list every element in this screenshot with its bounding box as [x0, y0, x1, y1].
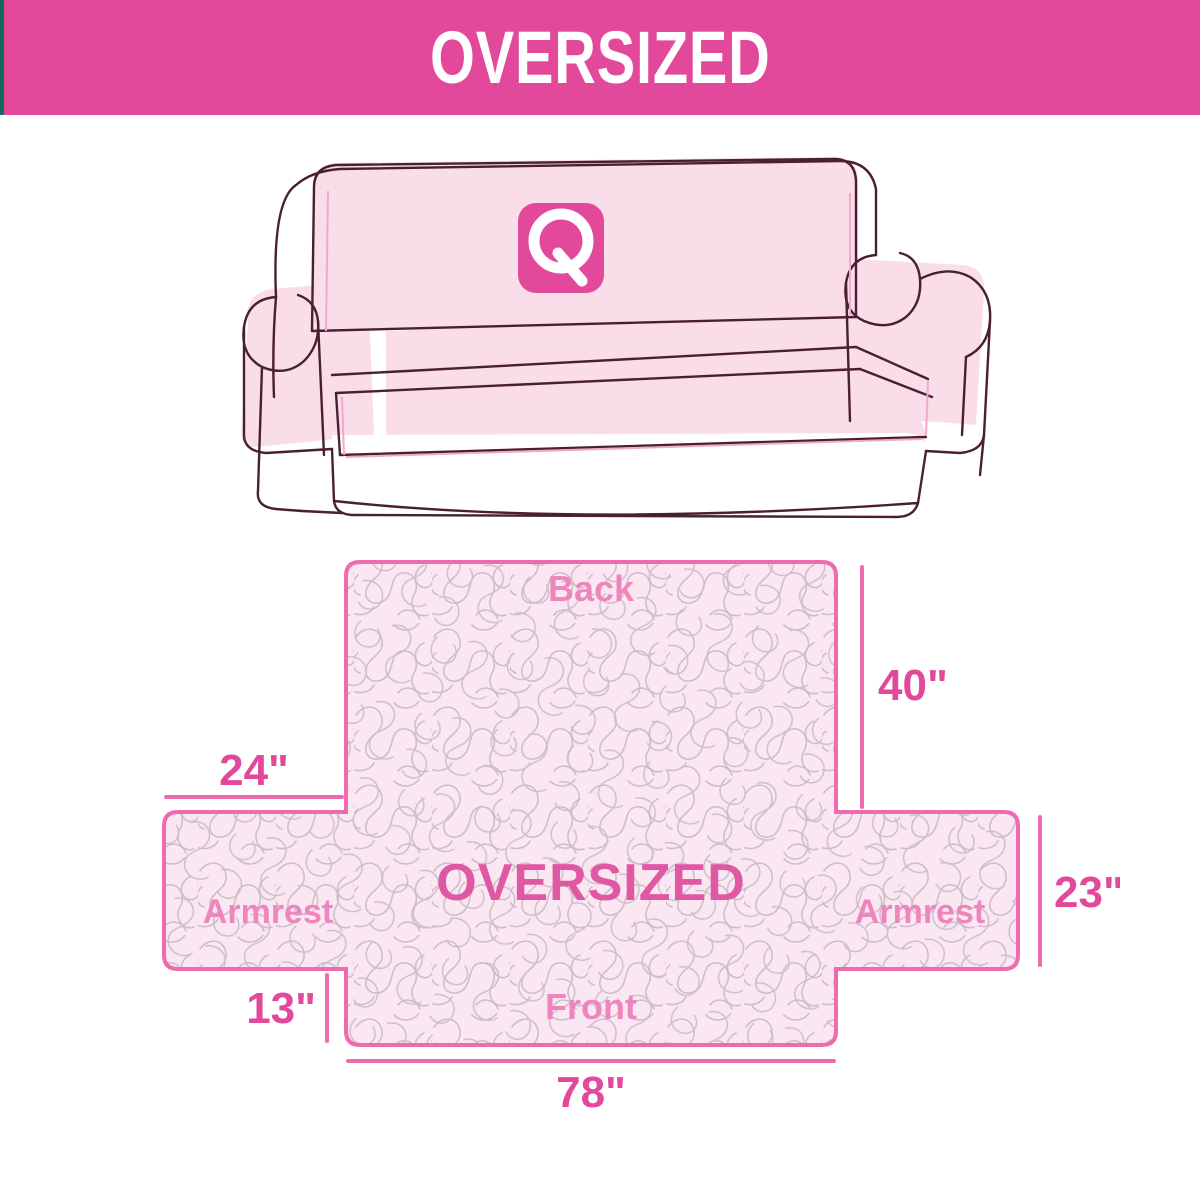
- dimension-label-13: 13": [246, 984, 316, 1033]
- dimension-label-78: 78": [556, 1068, 626, 1117]
- cover-shape: [120, 545, 1120, 1155]
- header-banner: OVERSIZED: [0, 0, 1200, 115]
- page-title: OVERSIZED: [430, 21, 771, 95]
- sofa-base-left-foot: [258, 491, 302, 511]
- dimension-front-offset: 13": [246, 975, 327, 1041]
- brand-badge: [518, 203, 604, 293]
- dimension-label-23: 23": [1054, 868, 1120, 917]
- sofa-right-arm-fill: [835, 259, 984, 425]
- sofa-base-left-bottom: [302, 511, 342, 513]
- dimension-armrest-height: 23": [1040, 817, 1120, 965]
- dimension-label-40: 40": [878, 661, 948, 710]
- panel-label-armrest-left: Armrest: [203, 893, 333, 931]
- sofa-illustration: [236, 135, 996, 525]
- dimension-back-height: 40": [862, 567, 948, 807]
- infographic-page: OVERSIZED: [0, 0, 1200, 1200]
- cover-quilt-overlay: [120, 545, 1120, 1155]
- dimension-label-24: 24": [219, 746, 289, 795]
- dimension-front-width: 78": [348, 1061, 834, 1117]
- banner-edge-accent: [0, 0, 4, 115]
- sofa-line-drawing: [236, 135, 996, 525]
- panel-label-back: Back: [548, 568, 635, 609]
- diagram-center-label: OVERSIZED: [436, 854, 746, 912]
- dimension-back-offset: 24": [166, 746, 342, 797]
- slipcover-diagram: Back Armrest Armrest Front OVERSIZED 40"…: [120, 545, 1120, 1155]
- panel-label-armrest-right: Armrest: [855, 893, 985, 931]
- panel-label-front: Front: [545, 986, 637, 1027]
- slipcover-flat-layout: Back Armrest Armrest Front OVERSIZED 40"…: [120, 545, 1120, 1155]
